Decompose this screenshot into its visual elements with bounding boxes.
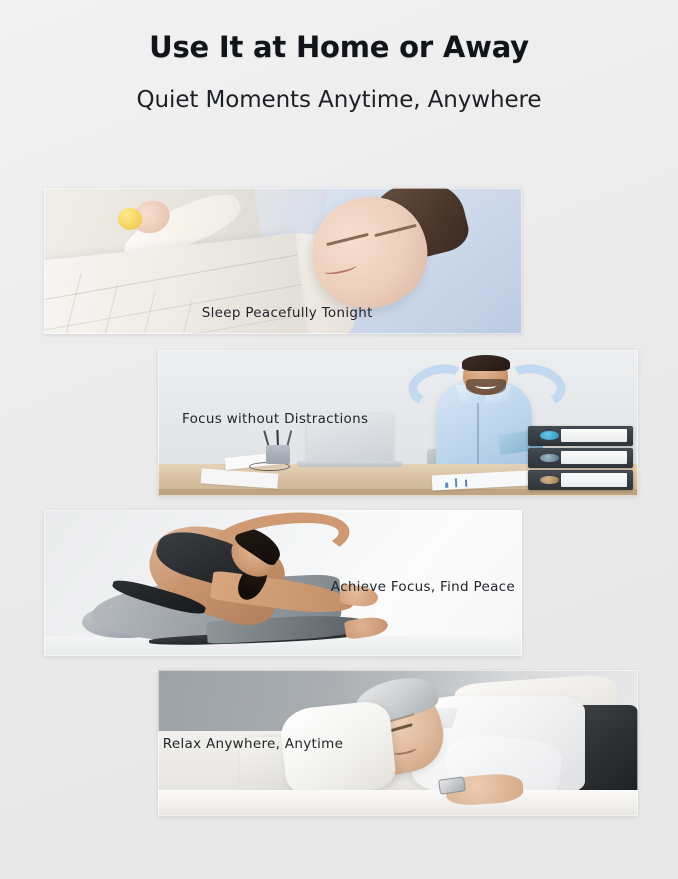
feature-panel-relax[interactable]: Relax Anywhere, Anytime — [158, 670, 638, 816]
page-title: Use It at Home or Away — [0, 30, 678, 65]
feature-panel-list: Sleep Peacefully Tonight — [0, 0, 678, 879]
panel-caption-peace: Achieve Focus, Find Peace — [331, 579, 515, 595]
page-subtitle: Quiet Moments Anytime, Anywhere — [0, 87, 678, 115]
shirt-placket-shape — [477, 397, 479, 473]
page-header: Use It at Home or Away Quiet Moments Any… — [0, 0, 678, 114]
panel-caption-relax: Relax Anywhere, Anytime — [163, 736, 343, 752]
feature-panel-sleep[interactable]: Sleep Peacefully Tonight — [44, 188, 522, 334]
feature-panel-focus[interactable]: Focus without Distractions — [158, 350, 638, 496]
binder-stack-shape — [528, 423, 634, 490]
feature-panel-peace[interactable]: Achieve Focus, Find Peace — [44, 510, 522, 656]
panel-caption-sleep: Sleep Peacefully Tonight — [202, 305, 373, 321]
couch-seat-shape — [158, 790, 638, 816]
laptop-base-shape — [297, 461, 403, 467]
pen-cup-shape — [266, 445, 290, 464]
man-hair-shape — [462, 355, 510, 371]
panel-caption-focus: Focus without Distractions — [182, 411, 368, 427]
